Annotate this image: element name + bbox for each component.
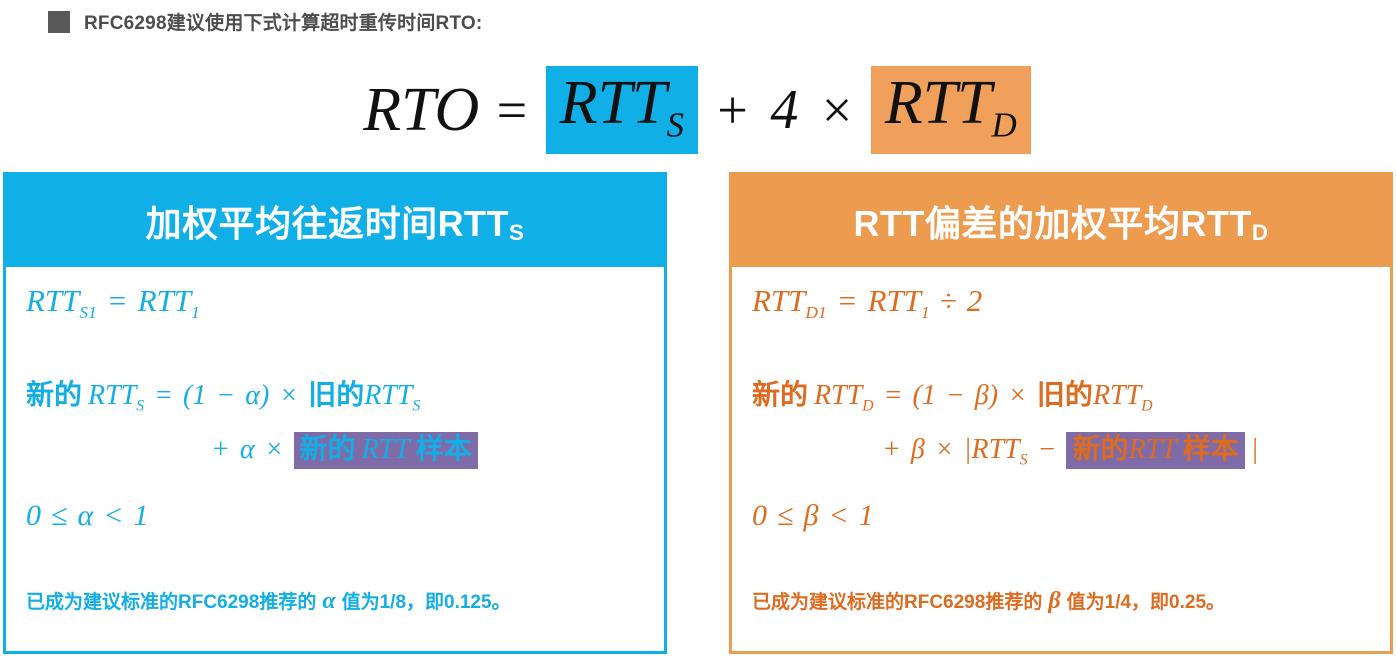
panel-rtt-d-title-sub: D	[1252, 220, 1269, 245]
rtts-l3-times: ×	[265, 434, 284, 465]
rttd-footnote-part2: 值为1/4，即0.25。	[1067, 592, 1225, 613]
rttd-l2-close: )	[989, 380, 998, 411]
rttd-l2-open: (	[913, 380, 922, 411]
rtts-l1-lhs: RTT	[26, 283, 79, 318]
rtts-footnote-part1: 已成为建议标准的RFC6298推荐的	[26, 592, 316, 613]
rttd-l3-highlight: 新的RTT样本	[1066, 432, 1244, 469]
rtts-l4-alpha: α	[77, 499, 93, 532]
rtts-l2-times: ×	[279, 380, 298, 411]
formula-lhs: RTO	[363, 79, 479, 141]
rtts-line-1: RTTS1=RTT1	[26, 283, 200, 323]
rtts-l2-alpha: α	[245, 380, 260, 411]
rtts-l3-hl-prefix: 新的	[300, 433, 356, 464]
rtts-l2-minus: −	[216, 380, 235, 411]
rtts-footnote-alpha: α	[322, 588, 335, 614]
panel-rtt-s-title: 加权平均往返时间RTTS	[146, 195, 525, 247]
formula-term-rtts-sub: S	[667, 106, 684, 145]
panel-rtt-d-body: RTTD1=RTT1÷2 新的RTTD=(1−β)×旧的RTTD +β×|RTT…	[732, 267, 1390, 653]
rttd-line-2: 新的RTTD=(1−β)×旧的RTTD	[752, 373, 1153, 416]
rtts-l2-var-sub: S	[136, 398, 144, 415]
rtts-l1-rhs: RTT	[138, 283, 191, 318]
rttd-l1-two: 2	[967, 283, 983, 318]
rtts-l2-old-sub: S	[412, 398, 420, 415]
rttd-l1-divide: ÷	[940, 283, 957, 318]
rtts-l3-hl-math: RTT	[362, 434, 410, 465]
rttd-line-1: RTTD1=RTT1÷2	[752, 283, 982, 323]
panel-rtt-s-title-sub: S	[509, 220, 524, 245]
rttd-l2-old: RTT	[1093, 380, 1141, 411]
rtts-l2-old-label: 旧的	[308, 379, 364, 410]
rtts-l2-eq: =	[154, 380, 173, 411]
rtts-footnote: 已成为建议标准的RFC6298推荐的α值为1/8，即0.125。	[26, 587, 511, 615]
rttd-l2-old-sub: D	[1141, 398, 1152, 415]
rttd-l3-hl-math: RTT	[1128, 434, 1176, 465]
rttd-l2-var: RTT	[814, 380, 862, 411]
rttd-l2-minus: −	[946, 380, 965, 411]
rtts-line-4: 0≤α<1	[26, 499, 148, 533]
rtts-l3-alpha: α	[240, 434, 255, 465]
rtts-l2-one: 1	[192, 380, 206, 411]
rttd-l4-one: 1	[859, 499, 874, 532]
formula-equals: =	[479, 83, 543, 137]
slide-canvas: RFC6298建议使用下式计算超时重传时间RTO: RTO = RTTS + 4…	[0, 0, 1396, 660]
rtts-line-2: 新的RTTS=(1−α)×旧的RTTS	[26, 373, 420, 416]
formula-term-rtts: RTTS	[546, 66, 698, 153]
rttd-l1-lhs: RTT	[752, 283, 805, 318]
rttd-l1-lhs-sub: D1	[805, 303, 826, 322]
rttd-l4-lt: <	[828, 499, 848, 532]
rttd-l1-rhs: RTT	[868, 283, 921, 318]
rttd-l3-abs-base: RTT	[971, 434, 1019, 465]
formula-plus: +	[700, 83, 764, 137]
rttd-l3-hl-prefix: 新的	[1072, 433, 1128, 464]
rttd-l2-beta: β	[975, 380, 989, 411]
panel-rtt-s: 加权平均往返时间RTTS RTTS1=RTT1 新的RTTS=(1−α)×旧的R…	[3, 172, 667, 654]
rtts-l2-var: RTT	[88, 380, 136, 411]
rtts-l3-plus: +	[211, 434, 230, 465]
main-formula: RTO = RTTS + 4 × RTTD	[0, 58, 1396, 162]
rtts-l4-le: ≤	[51, 499, 67, 532]
rttd-l3-plus: +	[882, 434, 901, 465]
rttd-footnote: 已成为建议标准的RFC6298推荐的β值为1/4，即0.25。	[752, 587, 1225, 615]
rtts-l3-highlight: 新的RTT样本	[294, 432, 478, 469]
rtts-l3-hl-suffix: 样本	[416, 433, 472, 464]
rttd-l3-hl-suffix: 样本	[1183, 433, 1239, 464]
rtts-l2-old: RTT	[364, 380, 412, 411]
panel-rtt-d-header: RTT偏差的加权平均RTTD	[732, 175, 1390, 267]
rttd-footnote-part1: 已成为建议标准的RFC6298推荐的	[752, 592, 1042, 613]
panel-rtt-s-title-main: 加权平均往返时间RTT	[146, 203, 509, 244]
rttd-l2-var-sub: D	[862, 398, 873, 415]
formula-coefficient: 4	[764, 82, 804, 138]
rttd-l2-one: 1	[922, 380, 936, 411]
square-bullet-icon	[48, 11, 70, 33]
rtts-l2-open: (	[183, 380, 192, 411]
rtts-l1-rhs-sub: 1	[191, 303, 200, 322]
rtts-l4-zero: 0	[26, 499, 41, 532]
rtts-l1-lhs-sub: S1	[79, 303, 96, 322]
rttd-l4-beta: β	[803, 499, 818, 532]
rtts-l4-one: 1	[133, 499, 148, 532]
rttd-line-3: +β×|RTTS−新的RTT样本|	[882, 427, 1258, 470]
panel-rtt-s-body: RTTS1=RTT1 新的RTTS=(1−α)×旧的RTTS +α×新的RTT样…	[6, 267, 664, 653]
panel-rtt-s-header: 加权平均往返时间RTTS	[6, 175, 664, 267]
formula-term-rttd: RTTD	[871, 66, 1031, 153]
rtts-footnote-part2: 值为1/8，即0.125。	[342, 592, 511, 613]
rttd-line-4: 0≤β<1	[752, 499, 874, 533]
formula-term-rttd-sub: D	[992, 106, 1017, 145]
rtts-l2-close: )	[260, 380, 269, 411]
rttd-l4-zero: 0	[752, 499, 767, 532]
rttd-l1-eq: =	[837, 283, 858, 318]
rttd-l3-minus: −	[1038, 434, 1057, 465]
panel-rtt-d-title-main: RTT偏差的加权平均RTT	[853, 203, 1251, 244]
formula-term-rtts-base: RTT	[560, 69, 667, 137]
slide-title-row: RFC6298建议使用下式计算超时重传时间RTO:	[48, 8, 482, 35]
rttd-l2-old-label: 旧的	[1037, 379, 1093, 410]
formula-times: ×	[804, 83, 868, 137]
rtts-l4-lt: <	[103, 499, 123, 532]
rttd-l3-abs-sub: S	[1020, 452, 1028, 469]
rttd-l3-abs-close: |	[1251, 434, 1259, 465]
page-title: RFC6298建议使用下式计算超时重传时间RTO:	[84, 8, 482, 35]
rtts-l2-new-label: 新的	[26, 379, 82, 410]
rttd-l3-beta: β	[911, 434, 925, 465]
rttd-footnote-beta: β	[1048, 588, 1060, 614]
panel-rtt-d-title: RTT偏差的加权平均RTTD	[853, 195, 1268, 247]
formula-term-rttd-base: RTT	[885, 69, 992, 137]
rttd-l4-le: ≤	[777, 499, 793, 532]
rtts-line-3: +α×新的RTT样本	[211, 427, 478, 467]
rttd-l2-times: ×	[1008, 380, 1027, 411]
rttd-l2-eq: =	[884, 380, 903, 411]
rttd-l2-new-label: 新的	[752, 379, 808, 410]
rttd-l1-rhs-sub: 1	[921, 303, 930, 322]
rttd-l3-times: ×	[935, 434, 954, 465]
panel-rtt-d: RTT偏差的加权平均RTTD RTTD1=RTT1÷2 新的RTTD=(1−β)…	[729, 172, 1393, 654]
rtts-l1-eq: =	[107, 283, 128, 318]
